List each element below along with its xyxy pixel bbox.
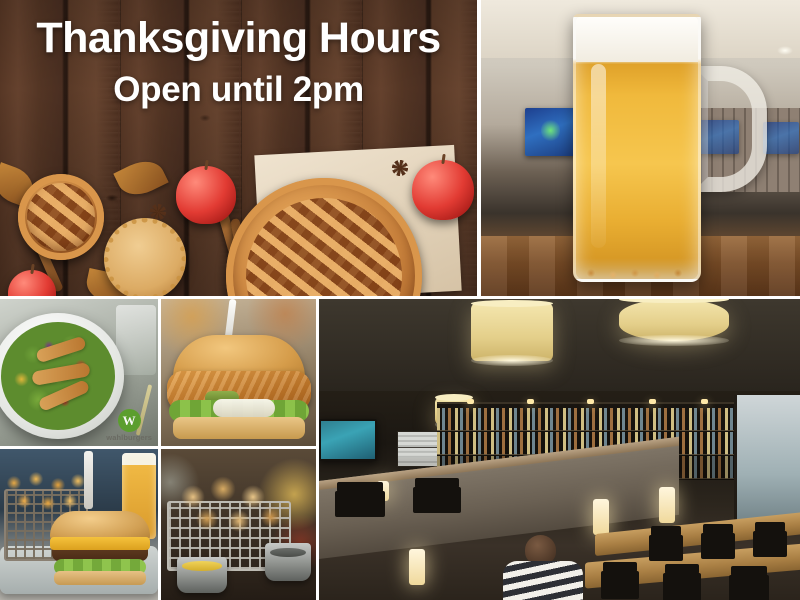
pendant-cap [471, 300, 553, 307]
wall-lamp [659, 487, 675, 523]
small-lattice-pie [18, 174, 104, 260]
dining-chair [649, 535, 683, 561]
tile-restaurant-interior[interactable] [319, 299, 800, 600]
wahlburgers-logo: W wahlburgers [106, 409, 152, 442]
wall-lamp [593, 499, 609, 535]
hand-pie [104, 218, 186, 296]
red-apple [412, 160, 474, 220]
burger-bottom-bun [54, 571, 146, 585]
melted-cheese [50, 537, 150, 550]
fried-dough-balls [171, 475, 289, 533]
red-apple [176, 166, 236, 224]
beer-foam-head [576, 17, 698, 62]
banner-subline: Open until 2pm [0, 70, 477, 110]
drum-pendant-light [619, 299, 729, 341]
dipping-sauce [182, 561, 222, 570]
tile-chicken-sandwich[interactable] [161, 299, 316, 446]
glass-entry-door [734, 395, 800, 527]
knife [84, 451, 93, 509]
track-light [587, 399, 594, 404]
star-anise [392, 160, 408, 176]
sauce-ramekin [177, 557, 227, 593]
peanuts-at-mug-base [577, 264, 697, 282]
tile-beer-mug[interactable] [481, 0, 800, 296]
onion-slice [213, 399, 275, 417]
tile-salad-bowl[interactable]: W wahlburgers [0, 299, 158, 446]
column-divider [158, 299, 161, 600]
quadrant-divider [0, 446, 316, 449]
glass-highlight [591, 64, 607, 247]
ceiling-light [777, 46, 793, 55]
track-light [701, 399, 708, 404]
wahlburgers-mark: W [118, 409, 141, 432]
booth-seating [335, 491, 385, 517]
column-divider [316, 299, 319, 600]
cheeseburger [50, 511, 150, 585]
dining-chair [753, 531, 787, 557]
star-anise [150, 204, 166, 220]
wahlburgers-wordmark: wahlburgers [106, 433, 152, 442]
tile-thanksgiving-banner[interactable]: Thanksgiving Hours Open until 2pm [0, 0, 477, 296]
tile-burger-and-tots[interactable] [0, 449, 158, 600]
dining-chair [601, 571, 639, 599]
wall-tv [525, 108, 579, 156]
tile-fried-dough-basket[interactable] [161, 449, 316, 600]
bottle-shelf [437, 408, 737, 431]
dining-chair [663, 573, 701, 600]
tv-content [541, 119, 559, 142]
dipping-sauce [270, 548, 307, 558]
dining-chair [729, 575, 769, 600]
bottom-bun [173, 417, 305, 439]
dining-chair [701, 533, 735, 559]
wall-lamp [409, 549, 425, 585]
row-divider [0, 296, 800, 299]
track-light [527, 399, 534, 404]
drum-pendant-light [471, 303, 553, 361]
banner-headline: Thanksgiving Hours [0, 16, 477, 61]
beer-mug [573, 14, 701, 282]
photo-collage: Thanksgiving Hours Open until 2pm [0, 0, 800, 600]
sauce-ramekin [265, 543, 311, 581]
track-light [649, 399, 656, 404]
track-light [467, 399, 474, 404]
booth-seating [413, 487, 461, 513]
seated-guest-striped-shirt [503, 561, 583, 600]
wall-tv-sports [319, 419, 377, 461]
wall-tv [763, 122, 799, 154]
mug-handle [693, 66, 767, 192]
column-divider [477, 0, 481, 296]
